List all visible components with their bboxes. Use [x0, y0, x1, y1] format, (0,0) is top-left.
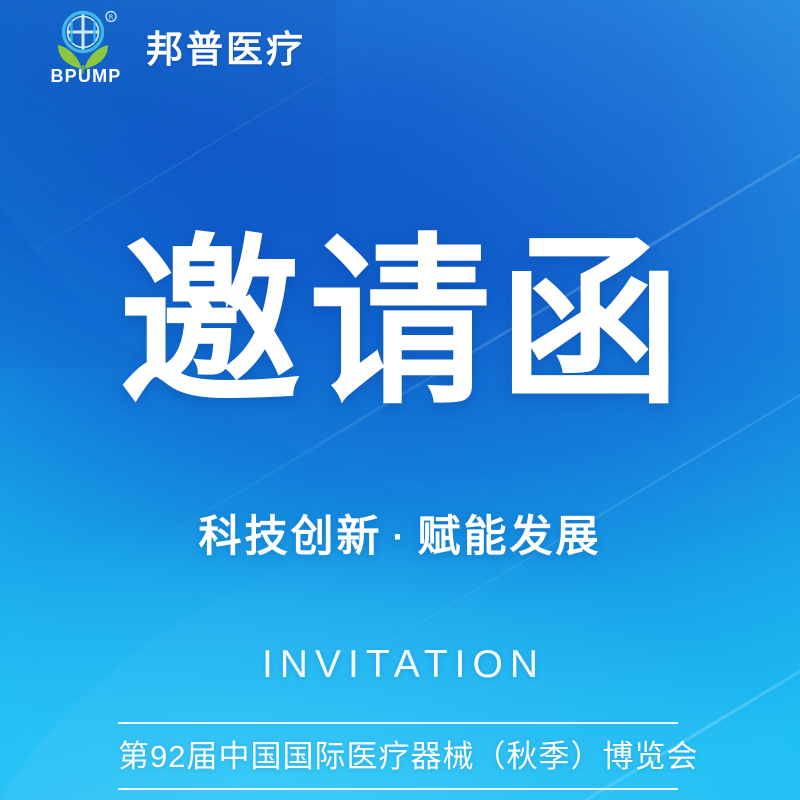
- invitation-english-label: INVITATION: [0, 645, 800, 684]
- hero-title-container: 邀请函: [0, 232, 800, 414]
- event-name-text: 第92届中国国际医疗器械（秋季）博览会: [118, 724, 678, 788]
- subtitle-separator-dot: ·: [383, 516, 418, 557]
- logo-wordmark: BPUMP: [48, 67, 124, 85]
- brand-header: R BPUMP 邦普医疗: [48, 8, 306, 90]
- page-title: 邀请函: [111, 232, 689, 414]
- company-name: 邦普医疗: [146, 31, 306, 68]
- invitation-poster: R BPUMP 邦普医疗 邀请函 科技创新·赋能发展 INVITATION 第9…: [0, 0, 800, 800]
- event-name-block: 第92届中国国际医疗器械（秋季）博览会: [118, 722, 678, 790]
- subtitle-left-text: 科技创新: [199, 513, 383, 561]
- event-name-bottom-rule: [118, 788, 678, 790]
- subtitle-right-text: 赋能发展: [418, 513, 602, 561]
- svg-text:R: R: [109, 14, 114, 22]
- bpump-circular-emblem-logo: R BPUMP: [48, 8, 124, 90]
- hero-subtitle: 科技创新·赋能发展: [0, 512, 800, 564]
